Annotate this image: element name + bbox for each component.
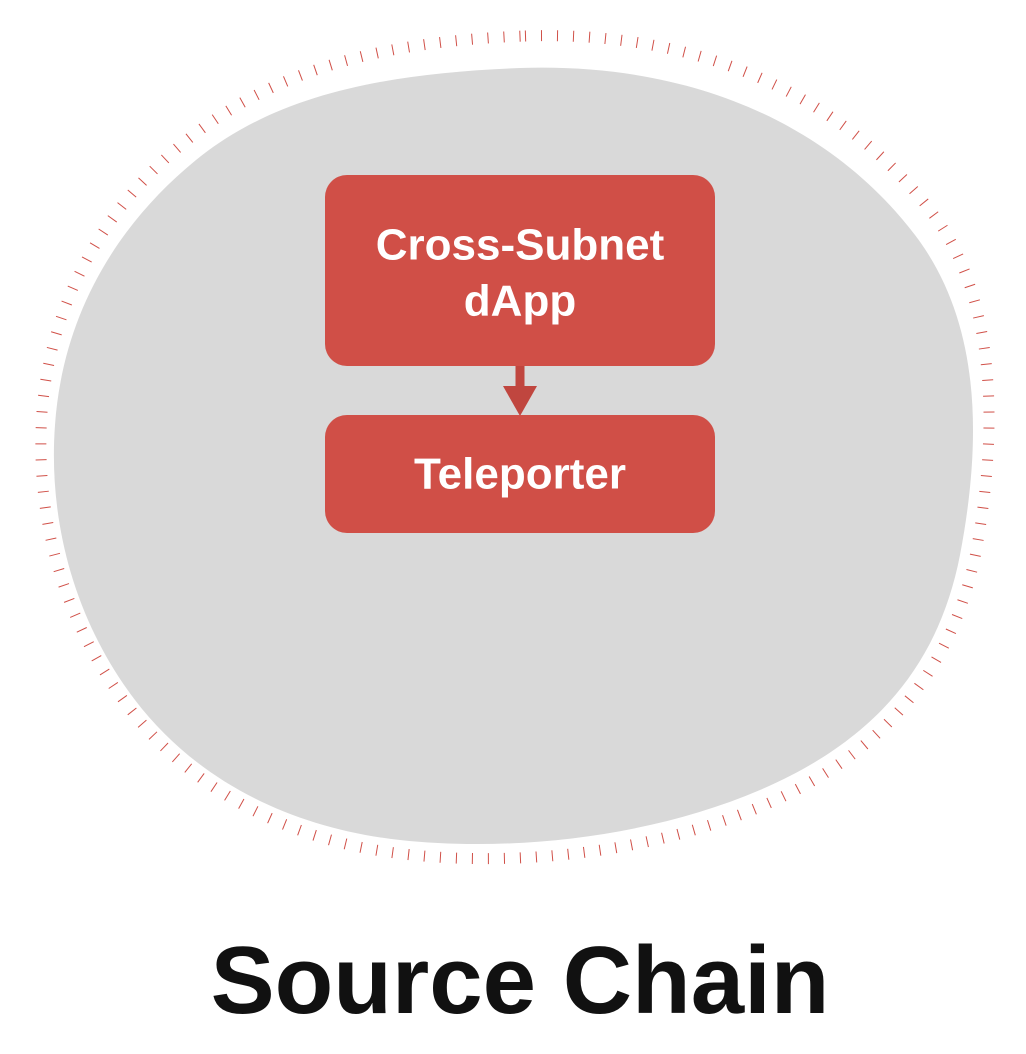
node-cross-subnet-dapp-label-line1: Cross-Subnet [376, 221, 665, 270]
node-cross-subnet-dapp-box[interactable] [325, 175, 715, 366]
node-cross-subnet-dapp-label-line2: dApp [464, 277, 576, 326]
diagram-canvas: Cross-Subnet dApp Teleporter Source Chai… [0, 0, 1026, 1054]
node-teleporter[interactable]: Teleporter [325, 415, 715, 533]
diagram-title: Source Chain [211, 927, 830, 1034]
source-chain-diagram: Cross-Subnet dApp Teleporter Source Chai… [0, 0, 1026, 1054]
node-teleporter-label: Teleporter [414, 450, 626, 499]
node-cross-subnet-dapp[interactable]: Cross-Subnet dApp [325, 175, 715, 366]
